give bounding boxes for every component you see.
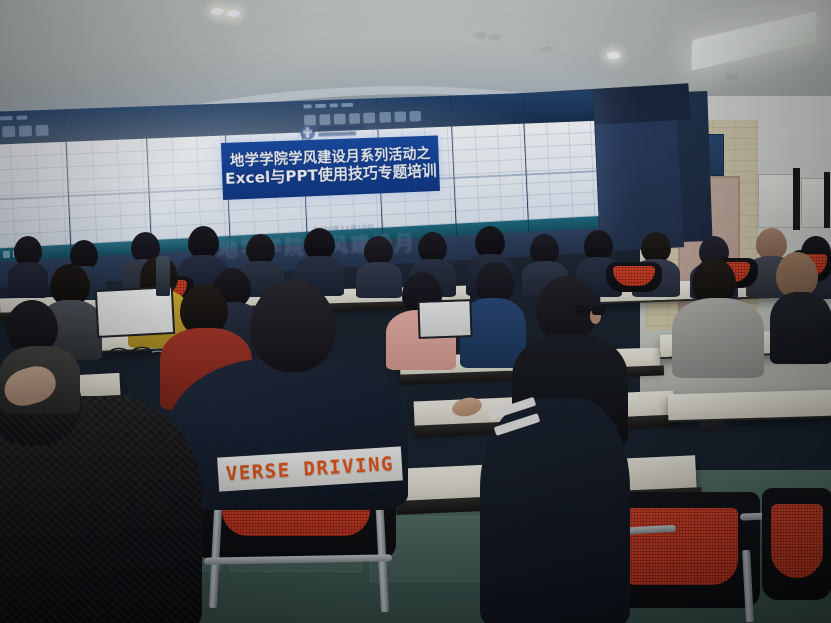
downlight-6 — [607, 52, 620, 59]
torso — [672, 298, 764, 378]
video-wall-panel-8 — [523, 91, 600, 232]
dark-slot-panel-2 — [824, 172, 830, 228]
excel-ribbon — [0, 109, 65, 145]
chair-foreground-right-2[interactable] — [762, 488, 831, 600]
downlight-3 — [474, 32, 487, 39]
desk-row-3-right — [668, 390, 831, 421]
excel-ribbon — [146, 104, 225, 139]
presentation-banner: 地学学院学风建设月系列活动之 Excel与PPT使用技巧专题培训 — [221, 135, 440, 200]
jacket-text: VERSE DRIVING — [225, 453, 394, 485]
classroom-photo: 地学学院学风建设月 地学学院学风建设月系列活动之 Excel与PPT使用技巧专题… — [0, 0, 831, 623]
torso — [770, 292, 831, 364]
emblem-wordmark — [318, 125, 364, 137]
white-cabinet-right — [801, 178, 826, 228]
downlight-4 — [488, 34, 501, 41]
downlight-1 — [211, 8, 224, 15]
downlight-7 — [726, 74, 739, 81]
emblem-icon — [300, 124, 316, 140]
downlight-2 — [227, 10, 240, 17]
student-grey-hoodie — [672, 258, 764, 376]
glasses-icon — [574, 302, 608, 318]
eyeglasses-on-desk — [106, 344, 166, 362]
excel-ribbon — [224, 101, 302, 136]
student-row-b-right — [770, 252, 831, 362]
downlight-5 — [540, 46, 553, 53]
excel-ribbon — [451, 93, 524, 126]
dark-slot-panel — [793, 168, 800, 230]
head — [250, 280, 336, 372]
excel-ribbon — [523, 91, 594, 124]
laptop-screen[interactable] — [417, 299, 472, 339]
excel-ribbon — [377, 96, 451, 130]
white-cabinet-left — [758, 174, 794, 228]
excel-ribbon — [65, 106, 146, 141]
chair-mesh — [771, 504, 823, 578]
water-bottle[interactable] — [156, 256, 170, 296]
video-wall-panel-7 — [451, 93, 530, 236]
